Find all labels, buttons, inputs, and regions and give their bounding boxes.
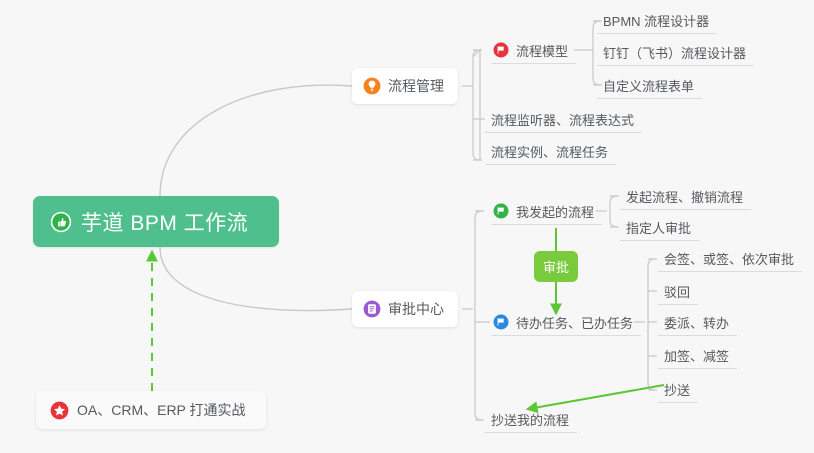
branch-approval-center[interactable]: 审批中心 (352, 291, 458, 327)
leaf-custom-form[interactable]: 自定义流程表单 (597, 73, 702, 99)
leaf-bpmn-designer[interactable]: BPMN 流程设计器 (597, 8, 717, 34)
leaf-assignee-approval[interactable]: 指定人审批 (620, 215, 699, 241)
leaf-dingtalk-designer[interactable]: 钉钉（飞书）流程设计器 (597, 40, 754, 66)
leaf-delegate[interactable]: 委派、转办 (658, 310, 737, 336)
node-todo-done-tasks[interactable]: 待办任务、已办任务 (491, 309, 641, 336)
node-label: 待办任务、已办任务 (516, 313, 633, 332)
flag-circle-icon (493, 314, 509, 330)
branch-process-management[interactable]: 流程管理 (352, 68, 458, 104)
node-label: OA、CRM、ERP 打通实战 (77, 400, 246, 420)
annotation-callout-approval: 审批 (534, 251, 578, 282)
mindmap-canvas: 芋道 BPM 工作流 流程管理 流程模型 BPMN 流程设计器 钉钉（飞书）流程… (0, 0, 814, 453)
branch-label: 审批中心 (388, 299, 444, 319)
node-label: 流程模型 (516, 41, 568, 60)
doc-circle-icon (363, 300, 381, 318)
star-circle-icon (50, 401, 69, 420)
leaf-process-instance[interactable]: 流程实例、流程任务 (485, 139, 616, 165)
branch-label: 流程管理 (388, 76, 444, 96)
leaf-process-listener[interactable]: 流程监听器、流程表达式 (485, 107, 642, 133)
node-label: 我发起的流程 (516, 202, 594, 221)
flag-circle-icon (493, 203, 509, 219)
leaf-add-remove-sign[interactable]: 加签、减签 (658, 343, 737, 369)
lightbulb-circle-icon (363, 77, 381, 95)
node-process-model[interactable]: 流程模型 (491, 37, 576, 64)
annotation-callout-label: 审批 (543, 257, 569, 276)
thumbs-up-circle-icon (50, 211, 72, 233)
root-node-label: 芋道 BPM 工作流 (81, 207, 248, 237)
leaf-countersign[interactable]: 会签、或签、依次审批 (658, 246, 802, 272)
flag-circle-icon (493, 42, 509, 58)
leaf-cc-to-me[interactable]: 抄送我的流程 (485, 407, 577, 433)
root-node[interactable]: 芋道 BPM 工作流 (33, 196, 279, 247)
node-my-initiated[interactable]: 我发起的流程 (491, 198, 602, 225)
node-oa-crm-erp[interactable]: OA、CRM、ERP 打通实战 (36, 391, 266, 429)
leaf-cc[interactable]: 抄送 (658, 377, 698, 403)
leaf-start-cancel-process[interactable]: 发起流程、撤销流程 (620, 184, 751, 210)
leaf-reject[interactable]: 驳回 (658, 279, 698, 305)
